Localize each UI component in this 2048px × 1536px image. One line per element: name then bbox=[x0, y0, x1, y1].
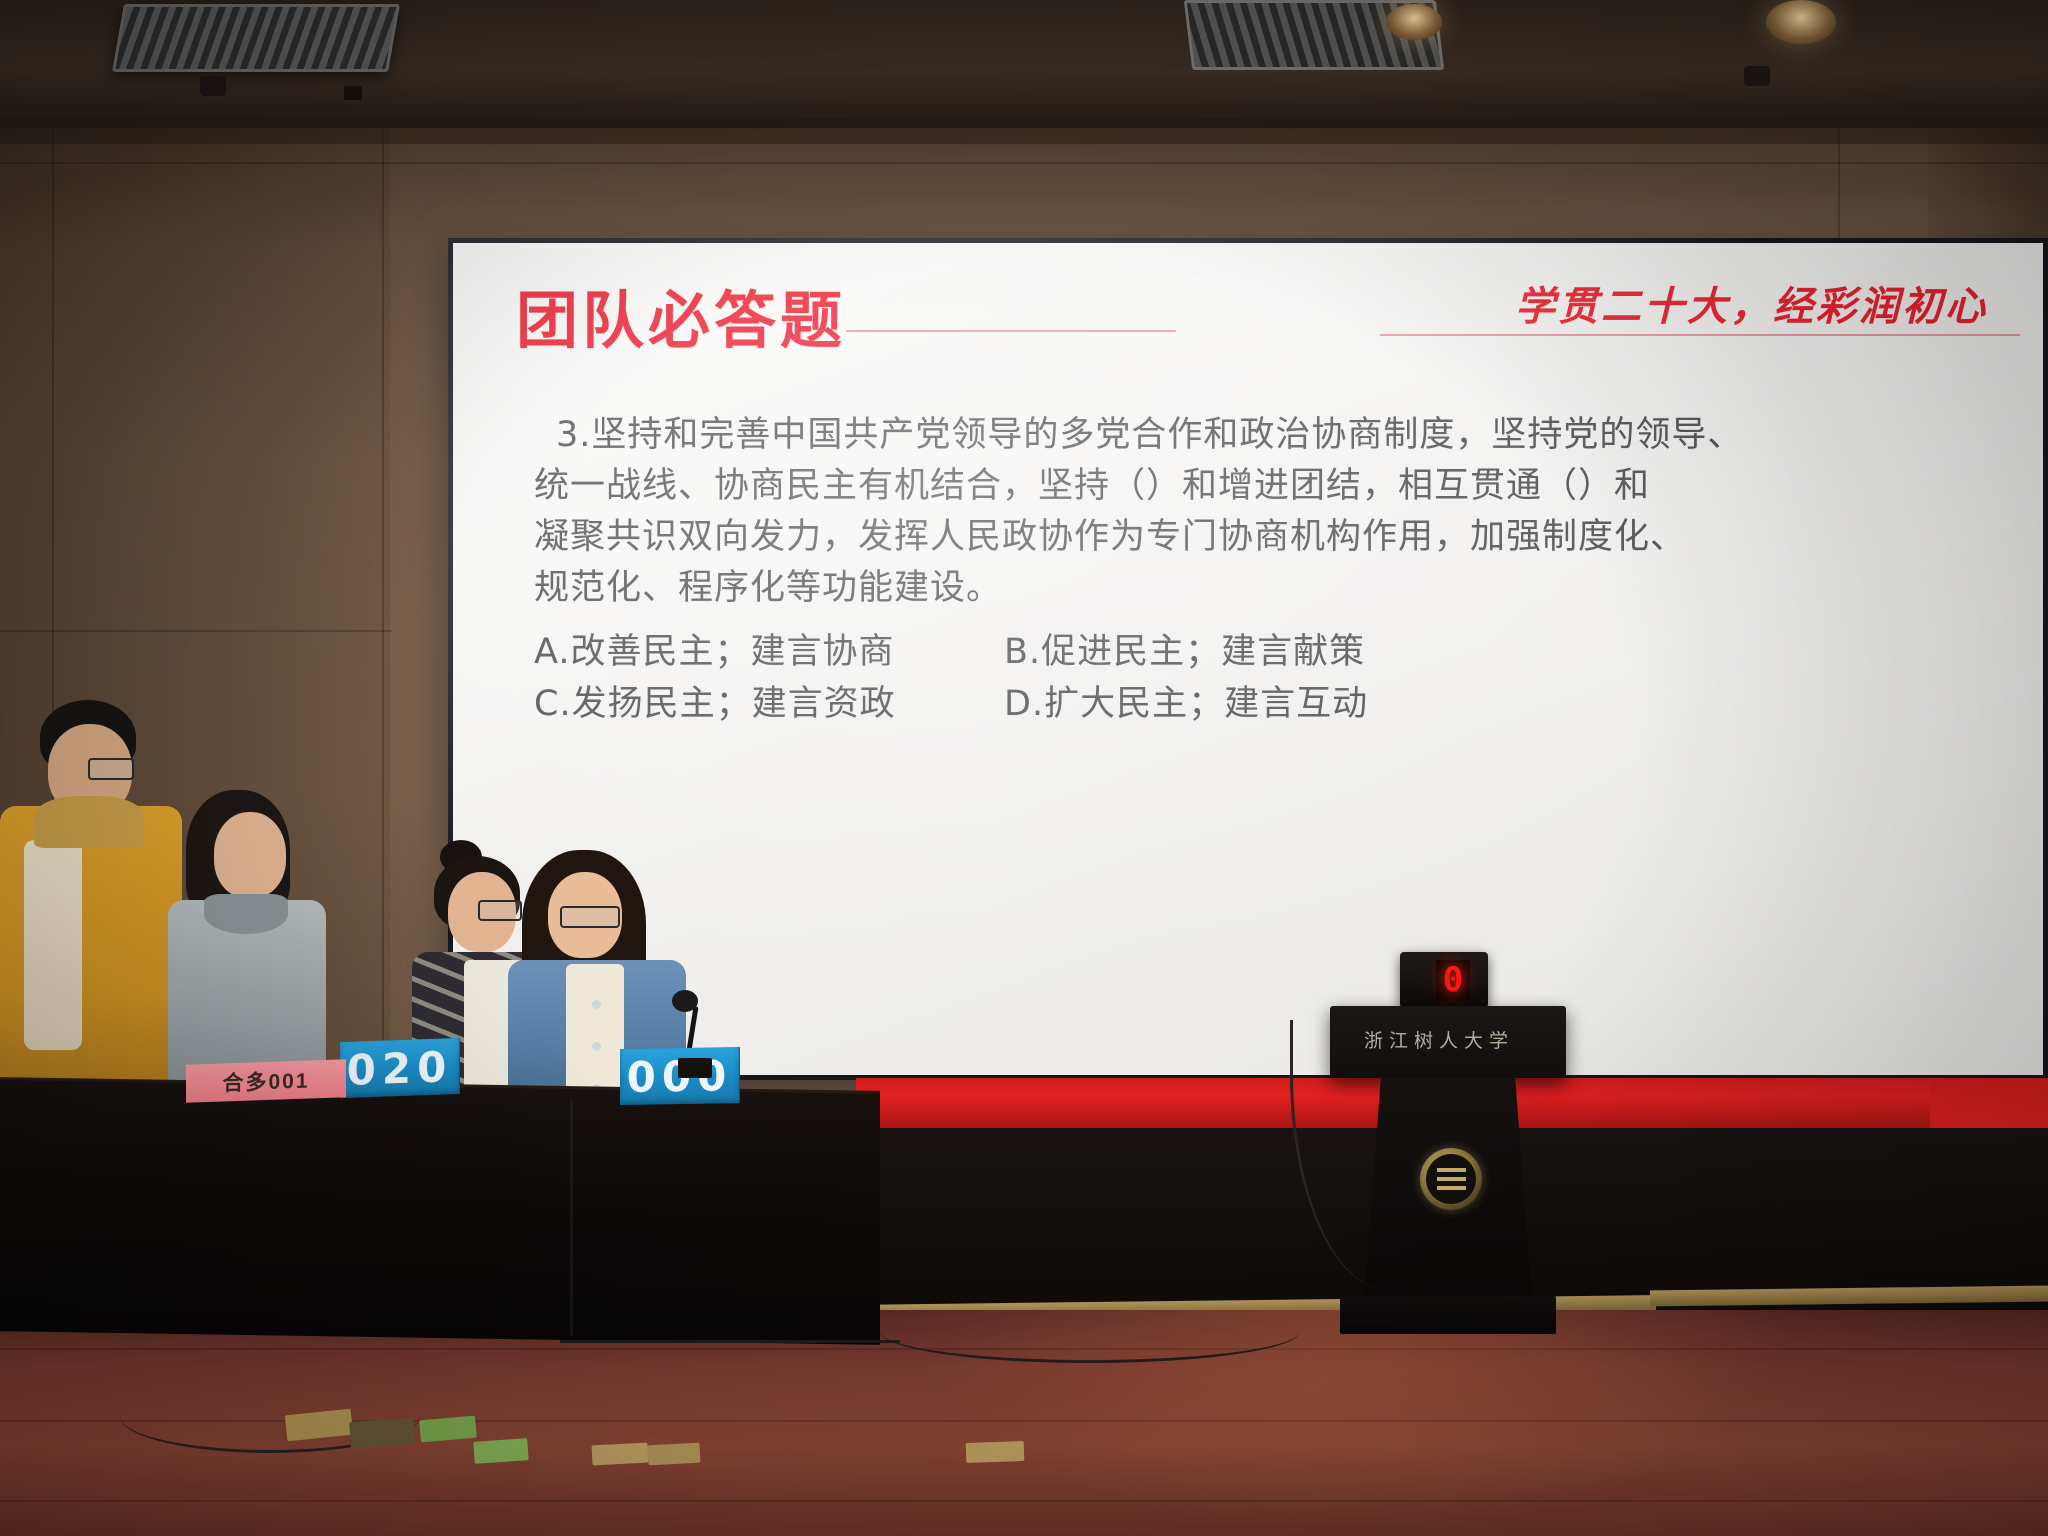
contestant-1-sleeve bbox=[24, 840, 82, 1050]
wall-rail-mid bbox=[0, 630, 392, 632]
contestant-4-button-1 bbox=[592, 1000, 601, 1009]
contestant-2-collar bbox=[204, 894, 288, 934]
floor-marker-3 bbox=[966, 1441, 1025, 1463]
title-underline bbox=[846, 330, 1176, 332]
contestant-1 bbox=[0, 700, 190, 1120]
photo-scene: 团队必答题 学贯二十大，经彩润初心 3.坚持和完善中国共产党领导的多党合作和政治… bbox=[0, 0, 2048, 1536]
power-brick bbox=[678, 1058, 712, 1078]
wall-rail-upper bbox=[0, 162, 2048, 164]
option-b: B.促进民主；建言献策 bbox=[1004, 626, 1365, 678]
microphone-capsule bbox=[672, 990, 698, 1012]
options-row-ab: A.改善民主；建言协商 B.促进民主；建言献策 bbox=[534, 626, 1954, 678]
wall-joint-2 bbox=[382, 128, 384, 1168]
contestant-4-button-2 bbox=[592, 1042, 601, 1051]
contestant-1-hood bbox=[34, 796, 144, 848]
question-line-2: 统一战线、协商民主有机结合，坚持（）和增进团结，相互贯通（）和 bbox=[534, 461, 2014, 512]
option-d: D.扩大民主；建言互动 bbox=[1004, 678, 1368, 730]
ceiling-downlight-1 bbox=[1766, 0, 1836, 44]
option-a: A.改善民主；建言协商 bbox=[534, 626, 1004, 678]
ceiling-sensor bbox=[344, 86, 362, 100]
question-line-3: 凝聚共识双向发力，发挥人民政协作为专门协商机构作用，加强制度化、 bbox=[534, 512, 2014, 563]
ceiling-speaker-left bbox=[200, 76, 226, 96]
ceiling-downlight-2 bbox=[1386, 4, 1442, 40]
options-row-cd: C.发扬民主；建言资政 D.扩大民主；建言互动 bbox=[534, 678, 1954, 730]
countdown-timer: 0 bbox=[1400, 952, 1488, 1008]
score-left-digit-0: 020 bbox=[340, 1038, 460, 1098]
crest-inner bbox=[1426, 1154, 1476, 1204]
contestant-1-glasses bbox=[88, 758, 134, 780]
green-tape-marker-2 bbox=[473, 1438, 528, 1464]
score-card-left[interactable]: 020 bbox=[340, 1038, 460, 1098]
cable-run-floor-1 bbox=[880, 1300, 1300, 1363]
timer-value: 0 bbox=[1443, 960, 1463, 1000]
team-name-card: 合多001 bbox=[186, 1059, 346, 1103]
ceiling-strip-1 bbox=[0, 104, 2048, 109]
floor-marker-2 bbox=[648, 1443, 701, 1466]
event-slogan: 学贯二十大，经彩润初心 bbox=[1515, 274, 1988, 332]
floor-marker-1 bbox=[592, 1443, 649, 1466]
gaffer-tape-strip-2 bbox=[349, 1418, 415, 1448]
question-line-1: 3.坚持和完善中国共产党领导的多党合作和政治协商制度，坚持党的领导、 bbox=[534, 410, 2014, 461]
slide-title: 团队必答题 bbox=[516, 270, 846, 360]
ceiling-vent-left bbox=[112, 4, 400, 72]
contestant-2-head bbox=[214, 812, 286, 898]
option-c: C.发扬民主；建言资政 bbox=[534, 678, 1004, 730]
university-crest-icon bbox=[1420, 1148, 1482, 1210]
slogan-underline bbox=[1380, 334, 2020, 336]
upper-wall-band bbox=[0, 118, 2048, 144]
timer-display: 0 bbox=[1436, 960, 1470, 1000]
options-block: A.改善民主；建言协商 B.促进民主；建言献策 C.发扬民主；建言资政 D.扩大… bbox=[534, 626, 1954, 730]
podium-base bbox=[1340, 1296, 1556, 1334]
ceiling-speaker-right bbox=[1744, 66, 1770, 86]
crest-bars bbox=[1437, 1168, 1466, 1191]
question-block: 3.坚持和完善中国共产党领导的多党合作和政治协商制度，坚持党的领导、 统一战线、… bbox=[534, 410, 2014, 614]
question-line-4: 规范化、程序化等功能建设。 bbox=[534, 563, 2014, 614]
contestant-4-glasses bbox=[560, 906, 620, 928]
